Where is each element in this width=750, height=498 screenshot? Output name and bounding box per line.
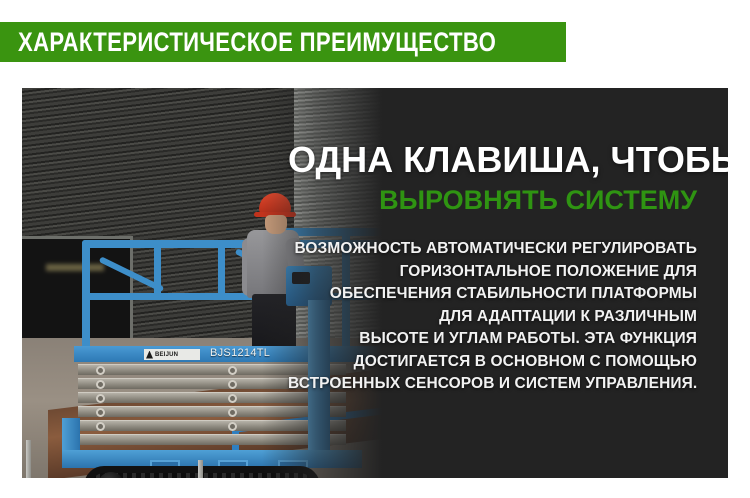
operator-face: [265, 215, 287, 234]
hero-headline-secondary: ВЫРОВНЯТЬ СИСТЕМУ: [288, 184, 697, 216]
scissor-pivot-pin: [96, 366, 105, 375]
scissor-pivot-pin: [96, 422, 105, 431]
scissor-pivot-pin: [96, 394, 105, 403]
body-copy-line: ДЛЯ АДАПТАЦИИ К РАЗЛИЧНЫМ: [288, 306, 697, 329]
page-title: ХАРАКТЕРИСТИЧЕСКОЕ ПРЕИМУЩЕСТВО: [18, 29, 496, 56]
header-banner: ХАРАКТЕРИСТИЧЕСКОЕ ПРЕИМУЩЕСТВО: [0, 22, 566, 62]
scissor-pivot-pin: [228, 422, 237, 431]
brand-name-label: BEIJUN: [155, 352, 178, 358]
scissor-pivot-pin: [228, 380, 237, 389]
scissor-pivot-pin: [228, 394, 237, 403]
body-copy-line: ВЫСОТЕ И УГЛАМ РАБОТЫ. ЭТА ФУНКЦИЯ: [288, 328, 697, 351]
body-copy-line: ГОРИЗОНТАЛЬНОЕ ПОЛОЖЕНИЕ ДЛЯ: [288, 261, 697, 284]
outrigger-leg: [198, 460, 203, 478]
hero-panel: BEIJUN BJS1214TL: [22, 88, 728, 478]
hero-text-block: ОДНА КЛАВИША, ЧТОБЫ ВЫРОВНЯТЬ СИСТЕМУ ВО…: [288, 140, 697, 396]
body-copy-line: ВСТРОЕННЫХ СЕНСОРОВ И СИСТЕМ УПРАВЛЕНИЯ.: [288, 373, 697, 396]
scissor-pivot-pin: [96, 408, 105, 417]
scissor-pivot-pin: [96, 380, 105, 389]
scissor-arm: [78, 406, 346, 417]
body-copy-line: ДОСТИГАЕТСЯ В ОСНОВНОМ С ПОМОЩЬЮ: [288, 351, 697, 374]
brand-logo-plate: BEIJUN: [144, 349, 200, 360]
scissor-pivot-pin: [228, 366, 237, 375]
outrigger-leg: [26, 440, 31, 478]
machine-model-label: BJS1214TL: [210, 347, 270, 359]
hero-body-copy: ВОЗМОЖНОСТЬ АВТОМАТИЧЕСКИ РЕГУЛИРОВАТЬ Г…: [288, 238, 697, 396]
hero-headline-primary: ОДНА КЛАВИША, ЧТОБЫ: [288, 140, 697, 180]
scissor-pivot-pin: [228, 408, 237, 417]
body-copy-line: ВОЗМОЖНОСТЬ АВТОМАТИЧЕСКИ РЕГУЛИРОВАТЬ: [288, 238, 697, 261]
brand-triangle-icon: [146, 351, 153, 359]
scissor-arm: [78, 434, 346, 445]
platform-rail-post: [218, 240, 225, 298]
scissor-arm: [78, 420, 346, 431]
body-copy-line: ОБЕСПЕЧЕНИЯ СТАБИЛЬНОСТИ ПЛАТФОРМЫ: [288, 283, 697, 306]
